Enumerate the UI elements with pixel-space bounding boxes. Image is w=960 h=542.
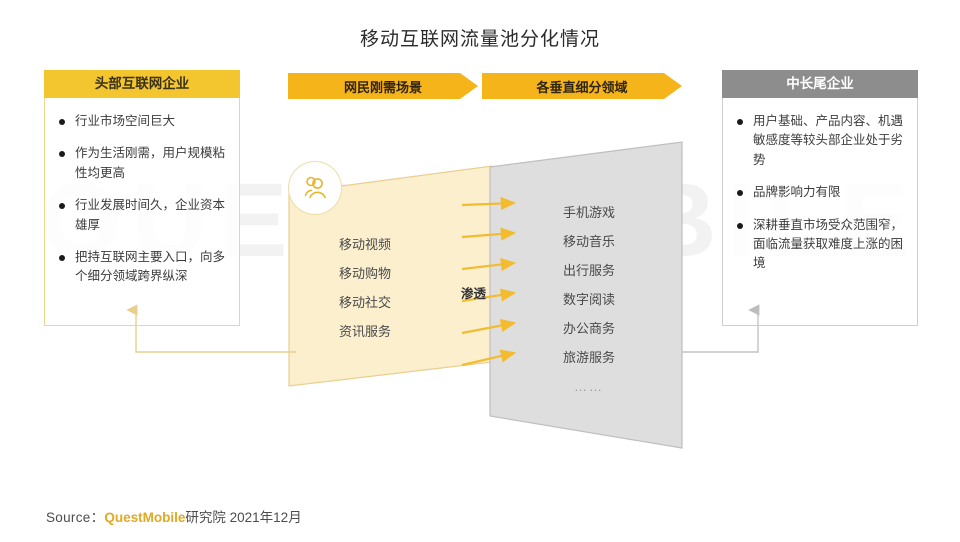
list-item-label: 用户基础、产品内容、机遇敏感度等较头部企业处于劣势 bbox=[753, 112, 907, 170]
bullet-dot-icon bbox=[59, 203, 65, 209]
users-icon bbox=[300, 173, 330, 203]
flow-arrow bbox=[462, 203, 514, 205]
left-panel-header: 头部互联网企业 bbox=[44, 70, 240, 98]
list-item: 行业发展时间久，企业资本雄厚 bbox=[53, 196, 229, 235]
list-item: 把持互联网主要入口，向多个细分领域跨界纵深 bbox=[53, 248, 229, 287]
list-item: 行业市场空间巨大 bbox=[53, 112, 229, 131]
banner-demand-scenarios: 网民刚需场景 bbox=[288, 73, 478, 99]
list-item-label: 行业市场空间巨大 bbox=[75, 112, 229, 131]
bullet-dot-icon bbox=[59, 119, 65, 125]
source-item: 移动购物 bbox=[339, 259, 391, 288]
bullet-dot-icon bbox=[59, 151, 65, 157]
list-item: 品牌影响力有限 bbox=[731, 183, 907, 202]
flow-arrow bbox=[462, 233, 514, 237]
connector-left bbox=[126, 300, 302, 366]
list-item-label: 作为生活刚需，用户规模粘性均更高 bbox=[75, 144, 229, 183]
right-panel-body: 用户基础、产品内容、机遇敏感度等较头部企业处于劣势 品牌影响力有限 深耕垂直市场… bbox=[722, 98, 918, 326]
source-label: Source： bbox=[46, 510, 104, 525]
source-footer: Source：QuestMobile研究院 2021年12月 bbox=[46, 506, 302, 526]
right-panel: 中长尾企业 用户基础、产品内容、机遇敏感度等较头部企业处于劣势 品牌影响力有限 … bbox=[722, 70, 918, 326]
bullet-dot-icon bbox=[737, 223, 743, 229]
list-item-label: 深耕垂直市场受众范围窄，面临流量获取难度上涨的困境 bbox=[753, 216, 907, 274]
bullet-dot-icon bbox=[59, 255, 65, 261]
left-panel-body: 行业市场空间巨大 作为生活刚需，用户规模粘性均更高 行业发展时间久，企业资本雄厚… bbox=[44, 98, 240, 326]
source-item: 移动社交 bbox=[339, 288, 391, 317]
list-item-label: 行业发展时间久，企业资本雄厚 bbox=[75, 196, 229, 235]
source-item-list: 移动视频 移动购物 移动社交 资讯服务 bbox=[339, 230, 391, 346]
target-item-list: 手机游戏 移动音乐 出行服务 数字阅读 办公商务 旅游服务 …… bbox=[549, 198, 629, 401]
source-suffix: 研究院 2021年12月 bbox=[185, 510, 301, 525]
target-item: 旅游服务 bbox=[549, 343, 629, 372]
target-item: 办公商务 bbox=[549, 314, 629, 343]
target-item: 出行服务 bbox=[549, 256, 629, 285]
right-panel-header: 中长尾企业 bbox=[722, 70, 918, 98]
banner-label: 各垂直细分领域 bbox=[536, 77, 627, 96]
target-item: 数字阅读 bbox=[549, 285, 629, 314]
penetration-label: 渗透 bbox=[458, 283, 489, 302]
banner-vertical-segments: 各垂直细分领域 bbox=[482, 73, 692, 99]
target-item: 手机游戏 bbox=[549, 198, 629, 227]
flow-arrow bbox=[462, 323, 514, 333]
slide-canvas: QUESTMOBILE 移动互联网流量池分化情况 头部互联网企业 行业市场空间巨… bbox=[0, 0, 960, 542]
bullet-dot-icon bbox=[737, 190, 743, 196]
left-panel: 头部互联网企业 行业市场空间巨大 作为生活刚需，用户规模粘性均更高 行业发展时间… bbox=[44, 70, 240, 326]
users-badge bbox=[288, 161, 342, 215]
bullet-dot-icon bbox=[737, 119, 743, 125]
target-item-more: …… bbox=[549, 372, 629, 401]
list-item: 用户基础、产品内容、机遇敏感度等较头部企业处于劣势 bbox=[731, 112, 907, 170]
source-item: 资讯服务 bbox=[339, 317, 391, 346]
target-item: 移动音乐 bbox=[549, 227, 629, 256]
banner-label: 网民刚需场景 bbox=[344, 77, 422, 96]
brand-name: QuestMobile bbox=[104, 510, 185, 525]
list-item-label: 品牌影响力有限 bbox=[753, 183, 907, 202]
source-item: 移动视频 bbox=[339, 230, 391, 259]
page-title: 移动互联网流量池分化情况 bbox=[0, 24, 960, 51]
connector-right bbox=[664, 300, 844, 366]
list-item: 深耕垂直市场受众范围窄，面临流量获取难度上涨的困境 bbox=[731, 216, 907, 274]
list-item: 作为生活刚需，用户规模粘性均更高 bbox=[53, 144, 229, 183]
list-item-label: 把持互联网主要入口，向多个细分领域跨界纵深 bbox=[75, 248, 229, 287]
flow-arrow bbox=[462, 353, 514, 365]
flow-arrow bbox=[462, 263, 514, 269]
